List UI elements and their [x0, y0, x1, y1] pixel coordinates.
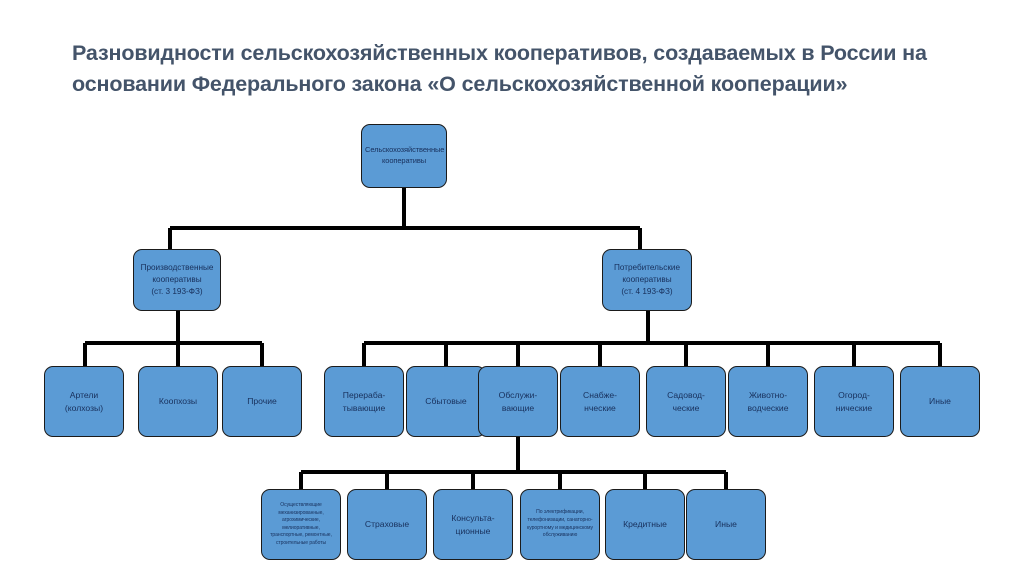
node-insurance[interactable]: Страховые	[347, 489, 427, 560]
node-marketing-label: Сбытовые	[410, 395, 482, 408]
node-arteli-kolkhozy[interactable]: Артели (колхозы)	[44, 366, 124, 437]
node-production-cooperatives[interactable]: Производственные кооперативы (ст. 3 193-…	[133, 249, 221, 311]
node-consumer-cooperatives-label: Потребительские кооперативы (ст. 4 193-Ф…	[606, 262, 688, 299]
node-livestock-label: Животно- водческие	[732, 389, 804, 415]
node-root-label: Сельскохозяйственные кооперативы	[365, 145, 443, 167]
node-supply[interactable]: Снабже- нческие	[560, 366, 640, 437]
node-other-consumer-label: Иные	[904, 395, 976, 408]
node-utilities-medical-label: По электрификации, телефонизации, санато…	[524, 509, 596, 541]
node-consulting-label: Консульта- ционные	[437, 512, 509, 538]
node-supply-label: Снабже- нческие	[564, 389, 636, 415]
node-utilities-medical[interactable]: По электрификации, телефонизации, санато…	[520, 489, 600, 560]
node-other-servicing[interactable]: Иные	[686, 489, 766, 560]
node-processing[interactable]: Перераба- тывающие	[324, 366, 404, 437]
node-other-servicing-label: Иные	[690, 518, 762, 531]
node-marketing[interactable]: Сбытовые	[406, 366, 486, 437]
node-servicing[interactable]: Обслужи- вающие	[478, 366, 558, 437]
node-mechanized-works[interactable]: Осуществляющие механизированные, агрохим…	[261, 489, 341, 560]
node-root[interactable]: Сельскохозяйственные кооперативы	[361, 124, 447, 188]
node-consulting[interactable]: Консульта- ционные	[433, 489, 513, 560]
node-credit-label: Кредитные	[609, 518, 681, 531]
node-gardening-label: Садовод- ческие	[650, 389, 722, 415]
node-horticulture[interactable]: Огород- нические	[814, 366, 894, 437]
node-prochie-production-label: Прочие	[226, 395, 298, 408]
node-other-consumer[interactable]: Иные	[900, 366, 980, 437]
node-livestock[interactable]: Животно- водческие	[728, 366, 808, 437]
node-mechanized-works-label: Осуществляющие механизированные, агрохим…	[265, 502, 337, 547]
node-koopkhozy[interactable]: Коопхозы	[138, 366, 218, 437]
node-koopkhozy-label: Коопхозы	[142, 395, 214, 408]
page-title: Разновидности сельскохозяйственных коопе…	[72, 38, 958, 99]
node-insurance-label: Страховые	[351, 518, 423, 531]
node-horticulture-label: Огород- нические	[818, 389, 890, 415]
node-consumer-cooperatives[interactable]: Потребительские кооперативы (ст. 4 193-Ф…	[602, 249, 692, 311]
node-processing-label: Перераба- тывающие	[328, 389, 400, 415]
node-prochie-production[interactable]: Прочие	[222, 366, 302, 437]
node-gardening[interactable]: Садовод- ческие	[646, 366, 726, 437]
node-servicing-label: Обслужи- вающие	[482, 389, 554, 415]
node-arteli-kolkhozy-label: Артели (колхозы)	[48, 389, 120, 415]
slide-canvas: Разновидности сельскохозяйственных коопе…	[0, 0, 1024, 574]
node-production-cooperatives-label: Производственные кооперативы (ст. 3 193-…	[137, 262, 217, 299]
node-credit[interactable]: Кредитные	[605, 489, 685, 560]
